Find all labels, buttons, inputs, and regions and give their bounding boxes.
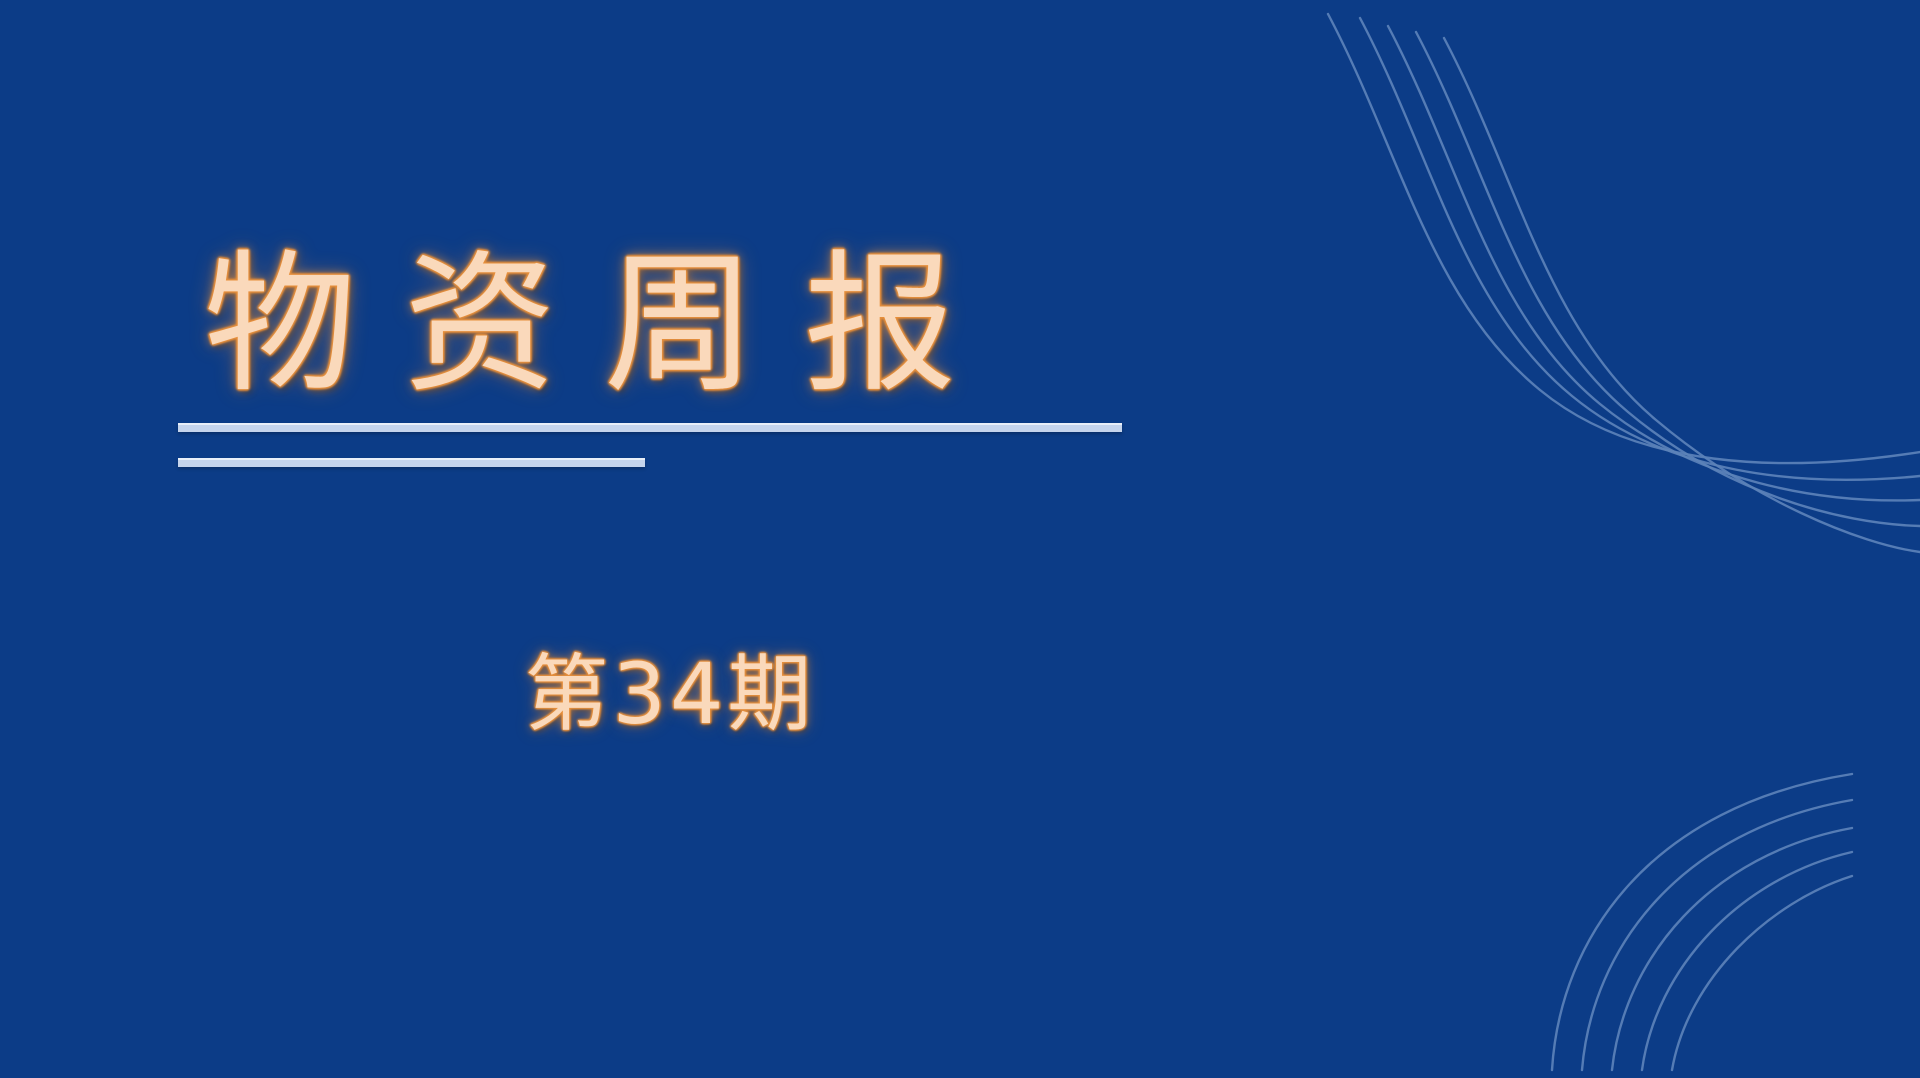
arc-line-3: [1612, 828, 1852, 1070]
title-underline-long: [178, 423, 1122, 432]
title-slide: 物资周报 第34期: [0, 0, 1920, 1078]
curve-line-4: [1416, 32, 1920, 526]
arc-line-2: [1582, 800, 1852, 1070]
curve-line-2: [1360, 18, 1920, 480]
arc-line-4: [1642, 852, 1852, 1070]
title-block: 物资周报: [178, 243, 1178, 467]
page-title: 物资周报: [204, 243, 1178, 407]
top-right-curves-decoration: [1280, 0, 1920, 580]
arc-line-5: [1672, 876, 1852, 1070]
curve-line-1: [1328, 14, 1920, 463]
bottom-right-arcs-decoration: [1500, 748, 1920, 1078]
curve-line-3: [1388, 26, 1920, 500]
subtitle-block: 第34期: [178, 648, 1162, 740]
curve-line-5: [1444, 38, 1920, 552]
top-right-curves-svg: [1280, 0, 1920, 580]
title-underline-short: [178, 458, 645, 467]
title-underline-group: [178, 423, 1178, 467]
issue-number-label: 第34期: [525, 648, 816, 740]
bottom-right-arcs-svg: [1500, 748, 1920, 1078]
arc-line-1: [1552, 774, 1852, 1070]
